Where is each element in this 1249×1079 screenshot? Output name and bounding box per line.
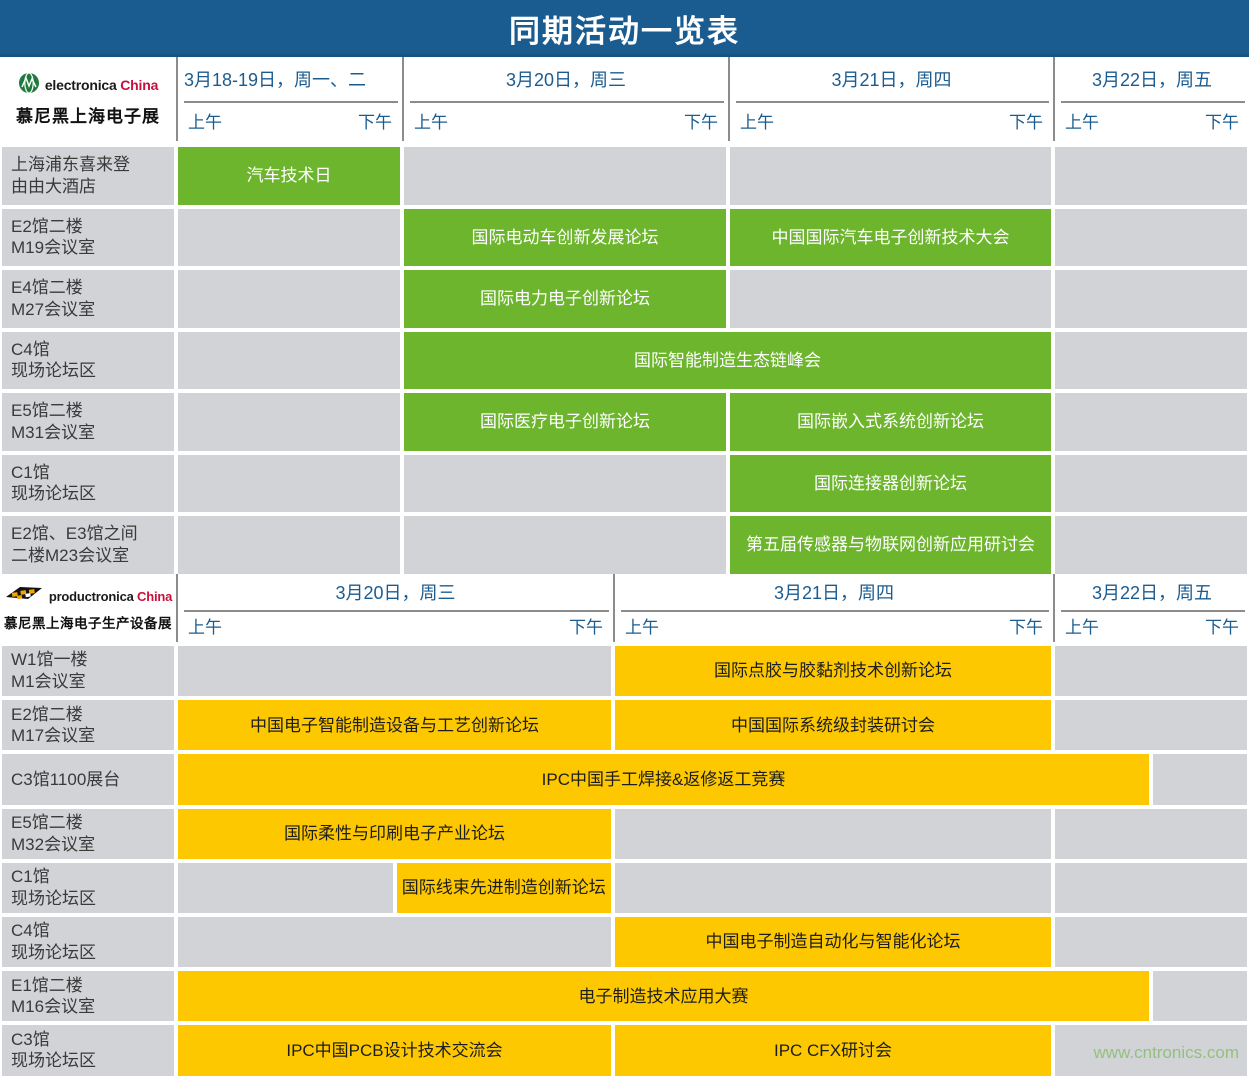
event-title: 国际连接器创新论坛 (814, 473, 967, 494)
empty-slot (1055, 917, 1247, 967)
empty-slot (178, 455, 400, 513)
table-row: C4馆现场论坛区中国电子制造自动化与智能化论坛 (0, 915, 1249, 969)
venue-line: 现场论坛区 (11, 483, 174, 505)
venue-label: C4馆现场论坛区 (2, 917, 174, 967)
event-title: 国际电力电子创新论坛 (480, 288, 650, 309)
table-row: E5馆二楼M31会议室国际医疗电子创新论坛国际嵌入式系统创新论坛 (0, 391, 1249, 453)
productronica-logo-name: productronica (49, 589, 134, 604)
event-title: 国际医疗电子创新论坛 (480, 411, 650, 432)
venue-line: C4馆 (11, 339, 174, 361)
event-title: 中国电子制造自动化与智能化论坛 (706, 931, 961, 952)
day-column-header: 3月18-19日，周一、二上午下午 (176, 57, 402, 141)
venue-label: E4馆二楼M27会议室 (2, 270, 174, 328)
event-title: 创新应用研讨会 (916, 534, 1035, 555)
empty-slot (615, 809, 1051, 859)
event-cell[interactable]: 中国电子智能制造设备与工艺创新论坛 (178, 700, 611, 750)
afternoon-label: 下午 (569, 613, 603, 638)
morning-label: 上午 (1065, 613, 1099, 638)
event-cell[interactable]: 国际柔性与印刷电子产业论坛 (178, 809, 611, 859)
table-row: 上海浦东喜来登由由大酒店汽车技术日 (0, 145, 1249, 207)
day-column-header: 3月20日，周三上午下午 (402, 57, 728, 141)
day-column-header: 3月21日，周四上午下午 (613, 574, 1053, 642)
venue-line: E2馆二楼 (11, 216, 174, 238)
day-column-header: 3月22日，周五上午下午 (1053, 574, 1249, 642)
venue-label: E5馆二楼M32会议室 (2, 809, 174, 859)
venue-line: M1会议室 (11, 671, 174, 693)
event-cell[interactable]: IPC CFX研讨会 (615, 1025, 1051, 1075)
empty-slot (1055, 700, 1247, 750)
venue-line: M17会议室 (11, 725, 174, 747)
empty-slot (404, 455, 726, 513)
table-row: C1馆现场论坛区国际线束先进制造创新论坛 (0, 861, 1249, 915)
empty-slot (178, 516, 400, 574)
event-title: 中国国际系统级封装研讨会 (731, 715, 935, 736)
productronica-logo-region: China (137, 589, 172, 604)
afternoon-label: 下午 (1205, 108, 1239, 133)
empty-slot (1055, 147, 1247, 205)
day-date-label: 3月22日，周五 (1055, 574, 1249, 610)
event-cell[interactable]: 国际线束先进制造创新论坛 (397, 863, 612, 913)
event-title: 国际智能制造生态链峰会 (634, 350, 821, 371)
table-row: C1馆现场论坛区国际连接器创新论坛 (0, 453, 1249, 515)
empty-slot (178, 270, 400, 328)
venue-label: E2馆、E3馆之间二楼M23会议室 (2, 516, 174, 574)
electronica-logo: electronica China 慕尼黑上海电子展 (0, 57, 176, 141)
venue-line: 现场论坛区 (11, 360, 174, 382)
venue-line: E5馆二楼 (11, 812, 174, 834)
event-title: IPC中国PCB设计技术交流会 (286, 1040, 502, 1061)
event-title: 国际嵌入式系统创新论坛 (797, 411, 984, 432)
empty-slot (615, 863, 1051, 913)
event-cell[interactable]: 国际点胶与胶黏剂技术创新论坛 (615, 646, 1051, 696)
venue-label: C3馆1100展台 (2, 754, 174, 804)
table-row: E1馆二楼M16会议室电子制造技术应用大赛 (0, 969, 1249, 1023)
empty-slot (1055, 863, 1247, 913)
event-cell[interactable]: IPC中国手工焊接&返修返工竞赛 (178, 754, 1149, 804)
venue-line: M27会议室 (11, 299, 174, 321)
venue-label: 上海浦东喜来登由由大酒店 (2, 147, 174, 205)
event-title: 国际电动车创新发展论坛 (472, 227, 659, 248)
day-column-header: 3月21日，周四上午下午 (728, 57, 1053, 141)
empty-slot (404, 147, 726, 205)
empty-slot (178, 917, 611, 967)
table-row: C3馆现场论坛区IPC中国PCB设计技术交流会IPC CFX研讨会 (0, 1023, 1249, 1077)
event-title: 中国国际汽车电子创新技术大会 (772, 227, 1010, 248)
productronica-flag-icon (4, 584, 44, 609)
productronica-logo: productronica China 慕尼黑上海电子生产设备展 (0, 574, 176, 642)
venue-label: E5馆二楼M31会议室 (2, 393, 174, 451)
event-title: 第五届传感器与物联网 (746, 534, 916, 555)
empty-slot (1055, 809, 1247, 859)
empty-slot (178, 646, 611, 696)
table-header-row: electronica China 慕尼黑上海电子展 3月18-19日，周一、二… (0, 57, 1249, 141)
afternoon-label: 下午 (1205, 613, 1239, 638)
schedule-page: 同期活动一览表 electronica China (0, 0, 1249, 1079)
venue-line: W1馆一楼 (11, 649, 174, 671)
afternoon-label: 下午 (1009, 108, 1043, 133)
afternoon-label: 下午 (684, 108, 718, 133)
empty-slot (178, 209, 400, 267)
afternoon-label: 下午 (358, 108, 392, 133)
venue-line: M19会议室 (11, 237, 174, 259)
venue-line: M16会议室 (11, 996, 174, 1018)
venue-line: C3馆 (11, 1029, 174, 1051)
event-cell[interactable]: 汽车技术日 (178, 147, 400, 205)
venue-label: W1馆一楼M1会议室 (2, 646, 174, 696)
venue-line: 现场论坛区 (11, 942, 174, 964)
empty-slot (1055, 646, 1247, 696)
empty-slot (730, 270, 1051, 328)
table-row: E4馆二楼M27会议室国际电力电子创新论坛 (0, 268, 1249, 330)
venue-label: C1馆现场论坛区 (2, 455, 174, 513)
event-title: IPC中国手工焊接&返修返工竞赛 (542, 769, 786, 790)
event-cell[interactable]: 电子制造技术应用大赛 (178, 971, 1149, 1021)
event-cell[interactable]: 中国国际汽车电子创新技术大会 (730, 209, 1051, 267)
table-row: W1馆一楼M1会议室国际点胶与胶黏剂技术创新论坛 (0, 644, 1249, 698)
event-cell[interactable]: 中国国际系统级封装研讨会 (615, 700, 1051, 750)
page-title-bar: 同期活动一览表 (0, 0, 1249, 57)
morning-label: 上午 (740, 108, 774, 133)
empty-slot (178, 332, 400, 390)
venue-label: E1馆二楼M16会议室 (2, 971, 174, 1021)
event-title: 汽车技术日 (247, 165, 332, 186)
empty-slot (1153, 754, 1247, 804)
electronica-logo-name: electronica (45, 77, 117, 93)
venue-line: C3馆1100展台 (11, 769, 174, 791)
event-title: 电子制造技术应用大赛 (579, 986, 749, 1007)
event-cell[interactable]: 国际连接器创新论坛 (730, 455, 1051, 513)
empty-slot (1153, 971, 1247, 1021)
venue-line: 现场论坛区 (11, 1050, 174, 1072)
venue-line: E1馆二楼 (11, 975, 174, 997)
empty-slot (1055, 393, 1247, 451)
event-cell[interactable]: 国际电动车创新发展论坛 (404, 209, 726, 267)
event-cell[interactable]: IPC中国PCB设计技术交流会 (178, 1025, 611, 1075)
venue-line: 现场论坛区 (11, 888, 174, 910)
event-title: 国际柔性与印刷电子产业论坛 (284, 823, 505, 844)
page-title: 同期活动一览表 (509, 6, 740, 51)
table-row: E2馆二楼M17会议室中国电子智能制造设备与工艺创新论坛中国国际系统级封装研讨会 (0, 698, 1249, 752)
table-row: C4馆现场论坛区国际智能制造生态链峰会 (0, 330, 1249, 392)
venue-line: E2馆二楼 (11, 704, 174, 726)
venue-label: C4馆现场论坛区 (2, 332, 174, 390)
venue-line: M32会议室 (11, 834, 174, 856)
event-cell[interactable]: 第五届传感器与物联网创新应用研讨会 (730, 516, 1051, 574)
table-row: E2馆二楼M19会议室国际电动车创新发展论坛中国国际汽车电子创新技术大会 (0, 207, 1249, 269)
day-date-label: 3月20日，周三 (404, 57, 728, 101)
site-watermark: www.cntronics.com (1094, 1043, 1239, 1063)
afternoon-label: 下午 (1009, 613, 1043, 638)
venue-line: E2馆、E3馆之间 (11, 523, 174, 545)
empty-slot (1055, 270, 1247, 328)
empty-slot (404, 516, 726, 574)
table-header-row: productronica China 慕尼黑上海电子生产设备展 3月20日，周… (0, 574, 1249, 642)
venue-line: 由由大酒店 (11, 176, 174, 198)
morning-label: 上午 (188, 108, 222, 133)
venue-line: E4馆二楼 (11, 277, 174, 299)
empty-slot (1055, 516, 1247, 574)
day-date-label: 3月20日，周三 (178, 574, 613, 610)
productronica-logo-subtitle: 慕尼黑上海电子生产设备展 (4, 612, 172, 632)
table-row: E5馆二楼M32会议室国际柔性与印刷电子产业论坛 (0, 807, 1249, 861)
day-date-label: 3月18-19日，周一、二 (178, 57, 402, 101)
event-title: 国际线束先进 (402, 877, 504, 898)
morning-label: 上午 (188, 613, 222, 638)
electronica-logo-region: China (120, 77, 158, 93)
empty-slot (1055, 209, 1247, 267)
event-cell[interactable]: 国际电力电子创新论坛 (404, 270, 726, 328)
event-title: 中国电子智能制造设备与工艺创新论坛 (250, 715, 539, 736)
day-column-header: 3月22日，周五上午下午 (1053, 57, 1249, 141)
venue-line: M31会议室 (11, 422, 174, 444)
table-row: E2馆、E3馆之间二楼M23会议室第五届传感器与物联网创新应用研讨会 (0, 514, 1249, 576)
venue-line: 二楼M23会议室 (11, 545, 174, 567)
venue-label: E2馆二楼M19会议室 (2, 209, 174, 267)
table-row: C3馆1100展台IPC中国手工焊接&返修返工竞赛 (0, 752, 1249, 806)
electronica-logo-subtitle: 慕尼黑上海电子展 (16, 102, 160, 127)
electronica-schedule-table: electronica China 慕尼黑上海电子展 3月18-19日，周一、二… (0, 57, 1249, 574)
venue-label: C3馆现场论坛区 (2, 1025, 174, 1075)
productronica-schedule-table: productronica China 慕尼黑上海电子生产设备展 3月20日，周… (0, 574, 1249, 1079)
event-cell[interactable]: 国际智能制造生态链峰会 (404, 332, 1051, 390)
event-cell[interactable]: 中国电子制造自动化与智能化论坛 (615, 917, 1051, 967)
event-cell[interactable]: 国际医疗电子创新论坛 (404, 393, 726, 451)
event-cell[interactable]: 国际嵌入式系统创新论坛 (730, 393, 1051, 451)
venue-line: C1馆 (11, 866, 174, 888)
empty-slot (1055, 332, 1247, 390)
day-date-label: 3月21日，周四 (615, 574, 1053, 610)
day-date-label: 3月22日，周五 (1055, 57, 1249, 101)
venue-line: E5馆二楼 (11, 400, 174, 422)
empty-slot (178, 863, 393, 913)
venue-label: C1馆现场论坛区 (2, 863, 174, 913)
morning-label: 上午 (1065, 108, 1099, 133)
empty-slot (178, 393, 400, 451)
event-title: IPC CFX研讨会 (774, 1040, 892, 1061)
morning-label: 上午 (625, 613, 659, 638)
venue-line: C1馆 (11, 462, 174, 484)
event-title: 制造创新论坛 (504, 877, 606, 898)
day-date-label: 3月21日，周四 (730, 57, 1053, 101)
empty-slot (1055, 455, 1247, 513)
venue-label: E2馆二楼M17会议室 (2, 700, 174, 750)
electronica-globe-icon (18, 72, 40, 99)
empty-slot (730, 147, 1051, 205)
event-title: 国际点胶与胶黏剂技术创新论坛 (714, 660, 952, 681)
morning-label: 上午 (414, 108, 448, 133)
venue-line: C4馆 (11, 920, 174, 942)
day-column-header: 3月20日，周三上午下午 (176, 574, 613, 642)
venue-line: 上海浦东喜来登 (11, 154, 174, 176)
